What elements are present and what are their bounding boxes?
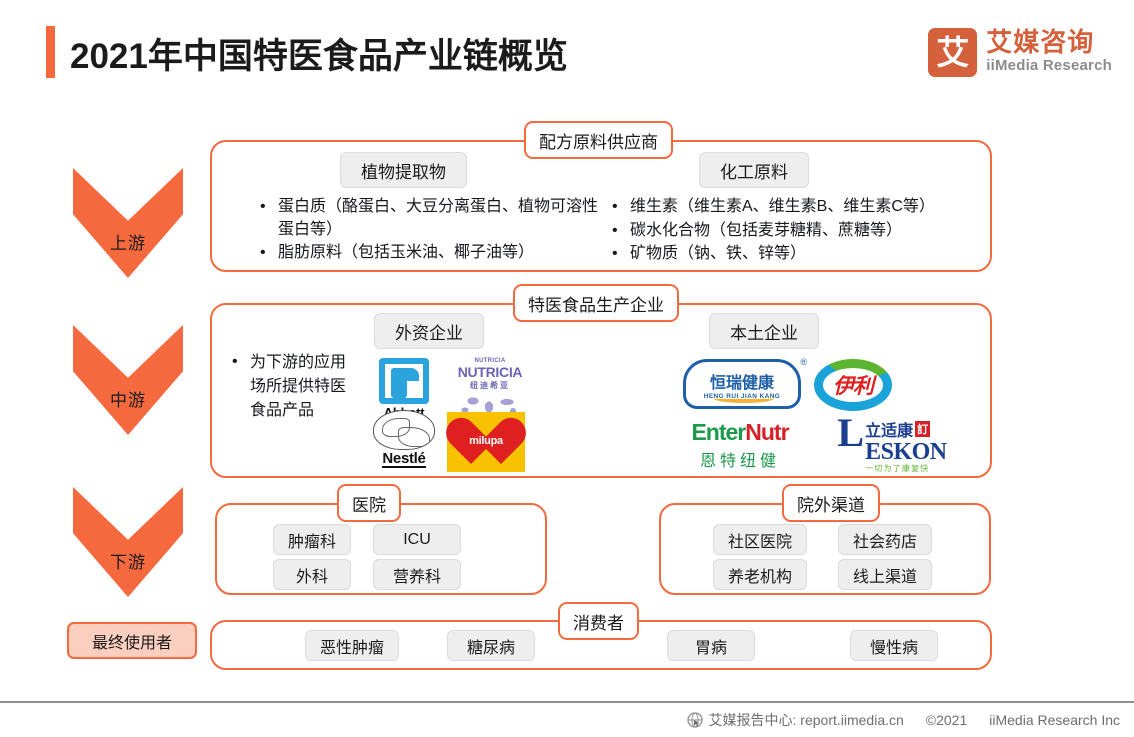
bullet-text: 维生素（维生素A、维生素B、维生素C等） <box>630 196 984 219</box>
panel-upstream: 植物提取物 化工原料 •蛋白质（酪蛋白、大豆分离蛋白、植物可溶性蛋白等） •脂肪… <box>210 140 992 272</box>
chip-nutrition: 营养科 <box>373 559 461 590</box>
panel-midstream: 外资企业 本土企业 • 为下游的应用场所提供特医食品产品 Abbott NUTR… <box>210 303 992 478</box>
tab-outside-channel: 院外渠道 <box>782 484 880 522</box>
bullet-dot: • <box>612 243 620 266</box>
leskon-cn-row: 立适康 訂 <box>865 417 947 441</box>
leskon-logo: L 立适康 訂 ESKON 一切为了康复快 <box>822 417 962 475</box>
enternutr-label-cn: 恩特纽健 <box>700 447 780 471</box>
yili-label: 伊利 <box>833 370 873 400</box>
bullet-text: 蛋白质（酪蛋白、大豆分离蛋白、植物可溶性蛋白等） <box>278 196 600 241</box>
tab-upstream: 配方原料供应商 <box>524 121 673 159</box>
hengrui-logo: 恒瑞健康 HENG RUI JIAN KANG ® <box>677 353 807 415</box>
heart-icon: milupa <box>458 416 514 468</box>
yili-logo: 伊利 <box>810 357 896 413</box>
leskon-label-cn: 立适康 <box>865 417 913 441</box>
milupa-label: milupa <box>458 435 514 447</box>
chip-stomach-disease: 胃病 <box>667 630 755 661</box>
nutricia-label: NUTRICIA <box>458 364 522 380</box>
bullet-dot: • <box>612 220 620 243</box>
page-header: 2021年中国特医食品产业链概览 艾 艾媒咨询 iiMedia Research <box>0 0 1134 105</box>
chip-online-channel: 线上渠道 <box>838 559 932 590</box>
bullet-text: 为下游的应用场所提供特医食品产品 <box>250 351 352 423</box>
logo-mark-icon: 艾 <box>928 28 977 77</box>
abbott-mark-icon <box>379 358 429 404</box>
enternutr-label-en: EnterNutr <box>691 419 788 446</box>
hengrui-shield-icon: 恒瑞健康 HENG RUI JIAN KANG ® <box>683 359 801 409</box>
title-accent-bar <box>46 26 55 78</box>
leskon-label-en: ESKON <box>865 441 947 463</box>
bullet-dot: • <box>612 196 620 219</box>
chip-domestic-enterprise: 本土企业 <box>709 313 819 349</box>
chip-pharmacy: 社会药店 <box>838 524 932 555</box>
nutricia-label-cn: 纽迪希亚 <box>470 380 510 391</box>
bullets-chemical-material: •维生素（维生素A、维生素B、维生素C等） •碳水化合物（包括麦芽糖精、蔗糖等）… <box>612 196 984 267</box>
chip-chronic-disease: 慢性病 <box>850 630 938 661</box>
chip-surgery: 外科 <box>273 559 351 590</box>
globe-icon <box>687 712 703 728</box>
logo-name-cn: 艾媒咨询 <box>986 29 1112 56</box>
bullets-midstream-note: • 为下游的应用场所提供特医食品产品 <box>232 351 352 424</box>
leskon-text-group: 立适康 訂 ESKON 一切为了康复快 <box>865 417 947 474</box>
stage-label-midstream: 中游 <box>110 386 146 411</box>
stage-chevron-upstream: 上游 <box>73 168 183 278</box>
nestle-bird-icon <box>373 410 435 450</box>
milupa-logo: milupa <box>447 412 525 472</box>
bullet-text: 碳水化合物（包括麦芽糖精、蔗糖等） <box>630 220 984 243</box>
final-user-pill: 最终使用者 <box>67 622 197 659</box>
swoosh-icon <box>714 394 774 403</box>
hengrui-label: 恒瑞健康 <box>710 369 774 393</box>
page-title: 2021年中国特医食品产业链概览 <box>70 28 568 79</box>
enternutr-label-enter: Enter <box>691 419 745 445</box>
footer-copyright: ©2021 <box>926 712 967 728</box>
stage-label-upstream: 上游 <box>110 229 146 254</box>
chip-icu: ICU <box>373 524 461 555</box>
bullet-dot: • <box>232 351 240 423</box>
chip-community-hospital: 社区医院 <box>713 524 807 555</box>
bullet-text: 矿物质（钠、铁、锌等） <box>630 243 984 266</box>
stage-chevron-midstream: 中游 <box>73 325 183 435</box>
chip-oncology: 肿瘤科 <box>273 524 351 555</box>
nestle-logo: Nestlé <box>364 405 444 473</box>
page-footer: 艾媒报告中心: report.iimedia.cn ©2021 iiMedia … <box>0 701 1134 737</box>
chip-malignant-tumor: 恶性肿瘤 <box>305 630 399 661</box>
stage-chevron-downstream: 下游 <box>73 487 183 597</box>
bullet-text: 脂肪原料（包括玉米油、椰子油等） <box>278 242 600 265</box>
logo-name-en: iiMedia Research <box>986 57 1112 75</box>
brand-logo: 艾 艾媒咨询 iiMedia Research <box>928 22 1112 82</box>
leskon-slogan: 一切为了康复快 <box>865 463 947 474</box>
tab-hospital: 医院 <box>337 484 401 522</box>
logo-text: 艾媒咨询 iiMedia Research <box>986 29 1112 74</box>
leskon-badge: 訂 <box>915 421 930 437</box>
bullets-plant-extract: •蛋白质（酪蛋白、大豆分离蛋白、植物可溶性蛋白等） •脂肪原料（包括玉米油、椰子… <box>260 196 600 266</box>
enternutr-logo: EnterNutr 恩特纽健 <box>660 417 820 473</box>
enternutr-label-nutr: Nutr <box>745 419 788 445</box>
registered-mark: ® <box>800 357 807 367</box>
nestle-label: Nestlé <box>382 451 425 469</box>
chip-elderly-care: 养老机构 <box>713 559 807 590</box>
stage-label-downstream: 下游 <box>110 548 146 573</box>
tab-consumer: 消费者 <box>558 602 639 640</box>
leskon-initial: L <box>837 417 864 449</box>
chip-plant-extract: 植物提取物 <box>340 152 467 188</box>
yili-oval-icon: 伊利 <box>814 359 892 411</box>
footer-company: iiMedia Research Inc <box>989 712 1120 728</box>
chip-chemical-material: 化工原料 <box>699 152 809 188</box>
footer-report-center: 艾媒报告中心: report.iimedia.cn <box>709 710 904 730</box>
chip-diabetes: 糖尿病 <box>447 630 535 661</box>
bullet-dot: • <box>260 242 268 265</box>
bullet-dot: • <box>260 196 268 241</box>
tab-midstream: 特医食品生产企业 <box>513 284 679 322</box>
chip-foreign-enterprise: 外资企业 <box>374 313 484 349</box>
